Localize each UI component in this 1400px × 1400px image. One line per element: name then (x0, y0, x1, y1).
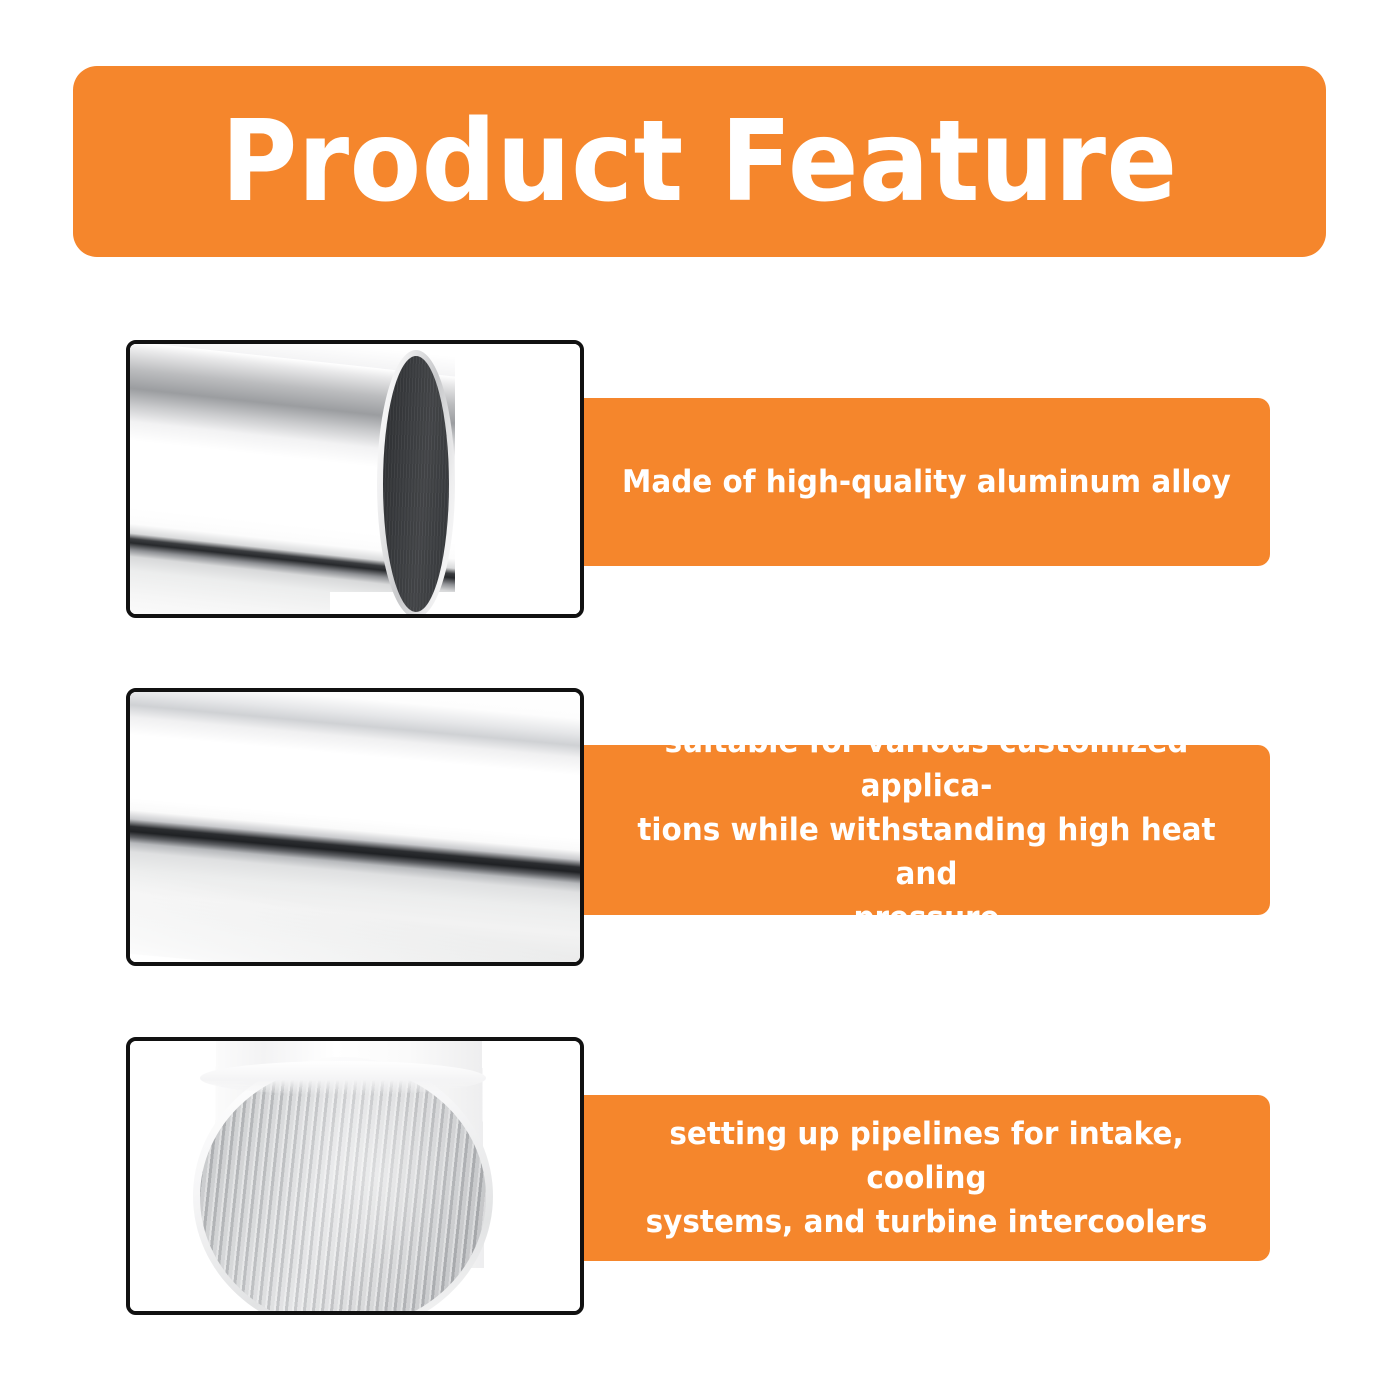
pipe-endface-photo (130, 1041, 580, 1311)
pipe-surface-photo (130, 692, 580, 962)
photo-bottom-background (330, 592, 580, 614)
feature-text-panel-2: suitable for various customized applica-… (583, 745, 1270, 915)
page-title-banner: Product Feature (73, 66, 1326, 257)
feature-text-panel-3: setting up pipelines for intake, cooling… (583, 1095, 1270, 1261)
feature-image-card-3 (126, 1037, 584, 1315)
feature-text-1: Made of high-quality aluminum alloy (622, 460, 1231, 504)
pipe-end-bore-shape (383, 356, 449, 612)
page-title: Product Feature (221, 106, 1178, 218)
feature-row-1: Made of high-quality aluminum alloy (0, 340, 1400, 618)
pipe-end-face-highlight (200, 1065, 486, 1311)
feature-text-2: suitable for various customized applica-… (621, 720, 1232, 940)
photo-right-background (455, 344, 580, 614)
feature-row-3: setting up pipelines for intake, cooling… (0, 1037, 1400, 1315)
feature-text-panel-1: Made of high-quality aluminum alloy (583, 398, 1270, 566)
pipe-angled-photo (130, 344, 580, 614)
feature-image-card-2 (126, 688, 584, 966)
feature-image-card-1 (126, 340, 584, 618)
pipe-end-top-crescent (200, 1061, 486, 1095)
feature-text-3: setting up pipelines for intake, cooling… (621, 1112, 1232, 1244)
feature-row-2: suitable for various customized applica-… (0, 688, 1400, 966)
